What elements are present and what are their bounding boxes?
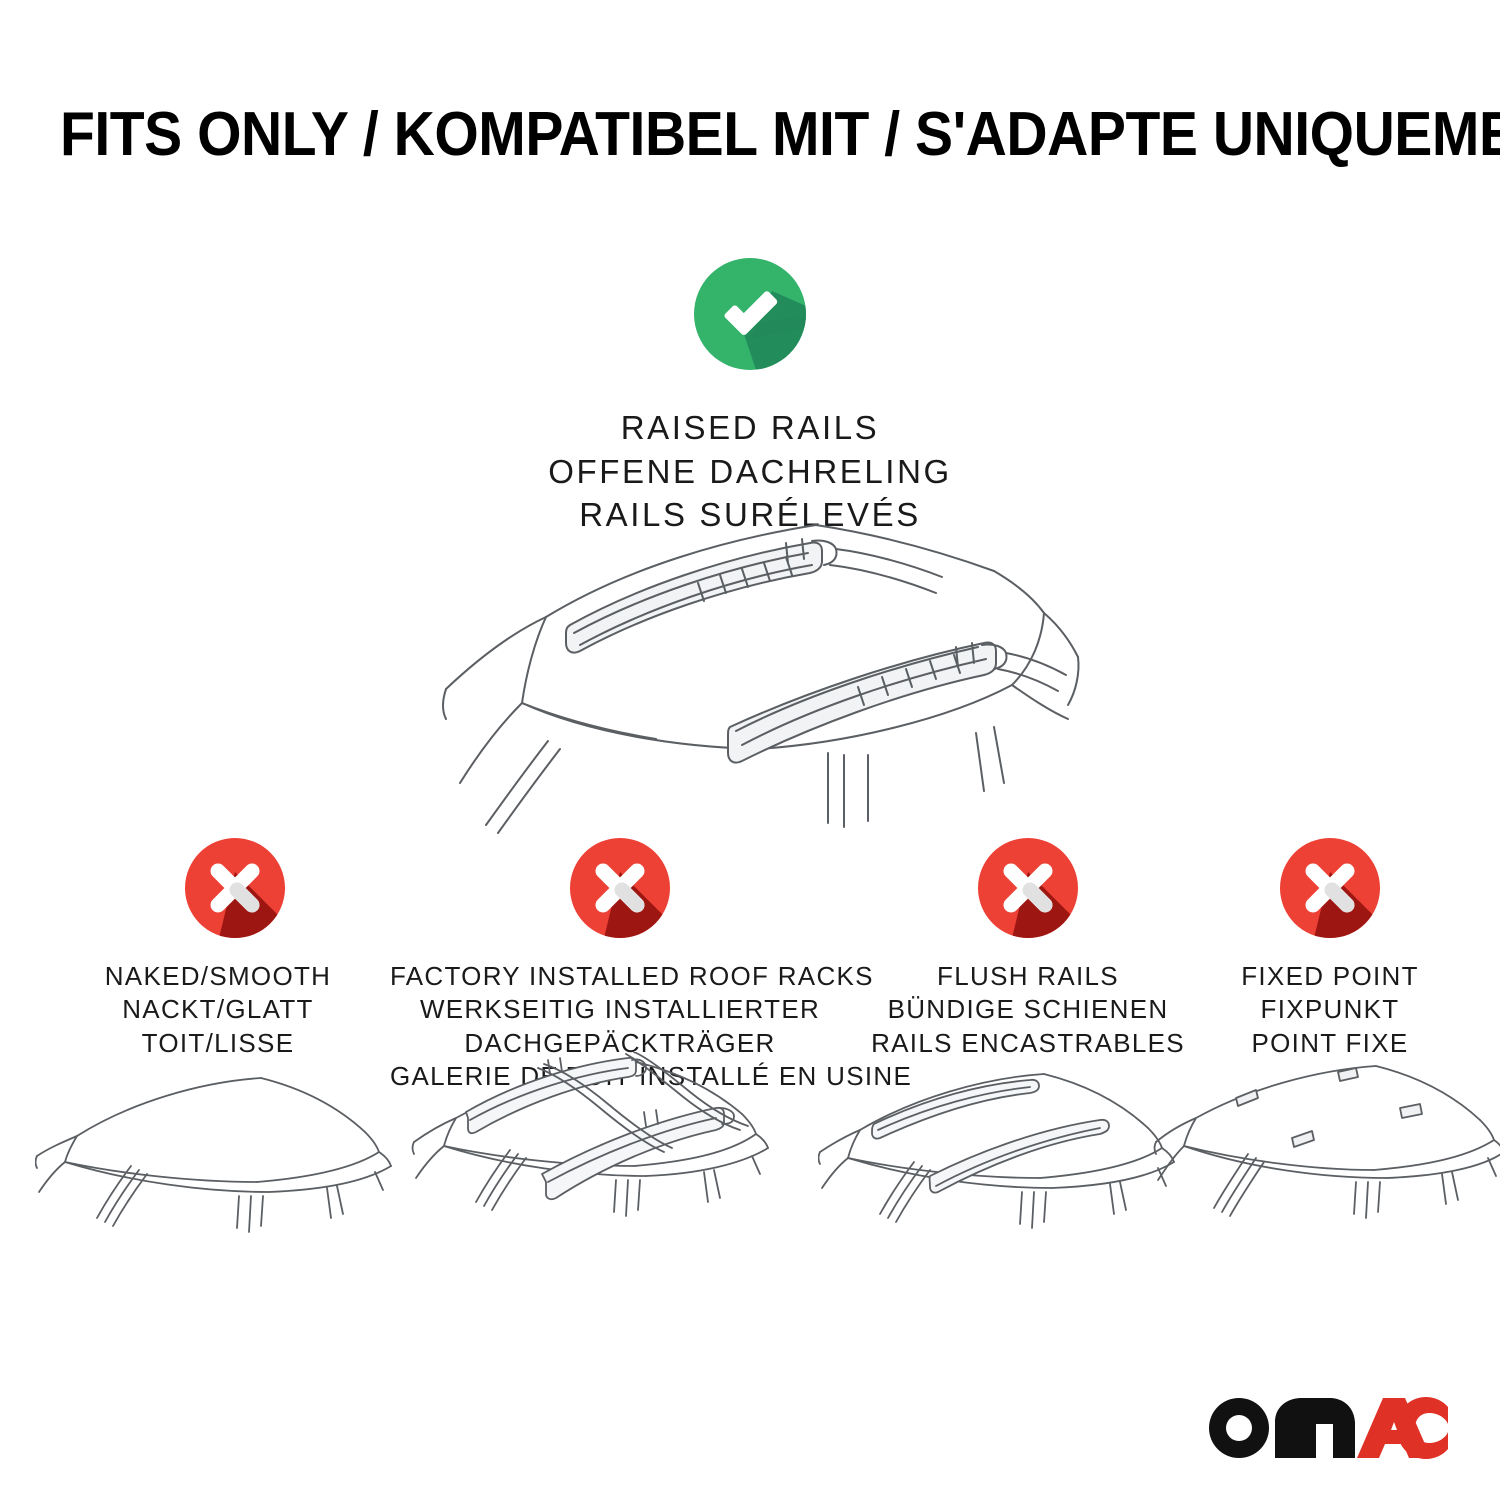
label-en: FLUSH RAILS [858, 960, 1198, 993]
label-en: NAKED/SMOOTH [18, 960, 418, 993]
compatible-label-de: OFFENE DACHRELING [0, 450, 1500, 494]
label-de: BÜNDIGE SCHIENEN [858, 993, 1198, 1026]
label-fr: POINT FIXE [1180, 1027, 1480, 1060]
red-cross-circle-icon [1280, 838, 1380, 938]
car-roof-raised-rails-drawing [398, 505, 1102, 835]
car-roof-factory-racks-drawing [410, 1052, 785, 1272]
label-fr: TOIT/LISSE [18, 1027, 418, 1060]
incompatible-labels-flush-rails: FLUSH RAILS BÜNDIGE SCHIENEN RAILS ENCAS… [858, 960, 1198, 1060]
incompatible-item-flush-rails: FLUSH RAILS BÜNDIGE SCHIENEN RAILS ENCAS… [858, 838, 1198, 1060]
car-roof-naked-smooth-drawing [35, 1058, 405, 1278]
omac-logo [1203, 1384, 1448, 1462]
red-cross-circle-icon [570, 838, 670, 938]
page-title: FITS ONLY / KOMPATIBEL MIT / S'ADAPTE UN… [60, 104, 1440, 166]
red-cross-circle-icon [185, 838, 285, 938]
label-en: FACTORY INSTALLED ROOF RACKS [390, 960, 850, 993]
label-de-1: WERKSEITIG INSTALLIERTER [390, 993, 850, 1026]
incompatible-item-naked-smooth: NAKED/SMOOTH NACKT/GLATT TOIT/LISSE [18, 838, 418, 1060]
label-en: FIXED POINT [1180, 960, 1480, 993]
car-roof-flush-rails-drawing [818, 1058, 1188, 1278]
compatible-section: RAISED RAILS OFFENE DACHRELING RAILS SUR… [0, 258, 1500, 537]
incompatible-section: NAKED/SMOOTH NACKT/GLATT TOIT/LISSE [0, 838, 1500, 1078]
green-check-circle-icon [694, 258, 806, 370]
label-de: NACKT/GLATT [18, 993, 418, 1026]
red-cross-circle-icon [978, 838, 1078, 938]
incompatible-item-fixed-point: FIXED POINT FIXPUNKT POINT FIXE [1180, 838, 1480, 1060]
compatible-label-en: RAISED RAILS [0, 406, 1500, 450]
label-de: FIXPUNKT [1180, 993, 1480, 1026]
incompatible-labels-fixed-point: FIXED POINT FIXPUNKT POINT FIXE [1180, 960, 1480, 1060]
car-roof-fixed-point-drawing [1152, 1058, 1500, 1278]
label-fr: RAILS ENCASTRABLES [858, 1027, 1198, 1060]
incompatible-labels-naked-smooth: NAKED/SMOOTH NACKT/GLATT TOIT/LISSE [18, 960, 418, 1060]
